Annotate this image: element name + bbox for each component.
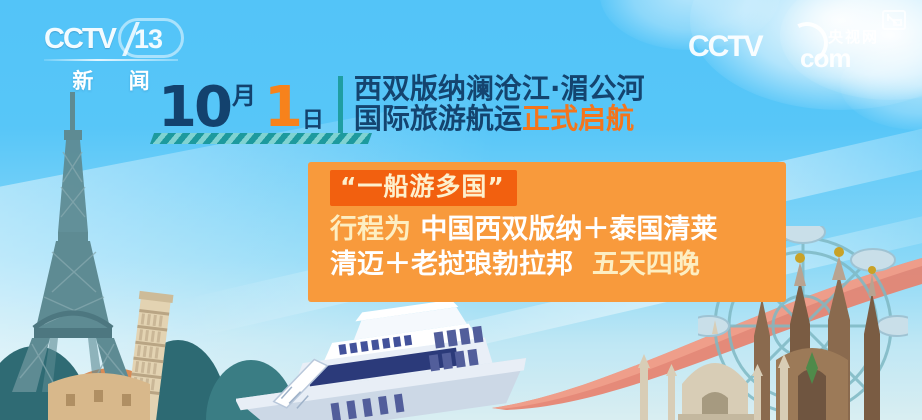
cctv-com-watermark: CCTV com 央视网: [688, 28, 888, 74]
headline-line-2-plain: 国际旅游航运: [354, 102, 522, 135]
hill-decoration: [206, 360, 296, 420]
headline-line-2: 国际旅游航运正式启航: [354, 104, 645, 134]
banner-duration: 五天四晚: [592, 249, 700, 280]
banner-route-cities-1: 中国西双版纳＋泰国清莱: [420, 214, 717, 245]
date-day-number: 1: [264, 81, 300, 136]
headline-line-2-emphasis: 正式启航: [522, 102, 634, 135]
channel-pill-outline: [118, 18, 184, 58]
taj-mahal-icon: [620, 310, 810, 420]
date-stripe-underline: [150, 133, 372, 144]
logo-underline-divider: [44, 59, 178, 61]
broadcast-graphic: CCTV 13 新 闻 CCTV com 央视网 10 月 1 日 西双版纳澜沧…: [0, 0, 922, 420]
itinerary-banner: “一船游多国” 行程为 中国西双版纳＋泰国清莱 清迈＋老挝琅勃拉邦 五天四晚: [308, 162, 786, 302]
banner-route-cities-2: 清迈＋老挝琅勃拉邦: [330, 249, 573, 280]
headline-divider: [338, 76, 343, 136]
banner-route-line-2: 清迈＋老挝琅勃拉邦 五天四晚: [330, 247, 786, 282]
cctv-com-wordmark: CCTV: [688, 32, 762, 62]
restore-inner-frame-icon: [893, 19, 902, 26]
headline-text-group: 西双版纳澜沧江·湄公河 国际旅游航运正式启航: [354, 74, 645, 134]
cctv-wordmark: CCTV: [44, 25, 115, 54]
restore-down-icon[interactable]: [882, 10, 906, 30]
date-month-number: 10: [158, 81, 230, 136]
cctv-com-chinese-label: 央视网: [828, 26, 879, 47]
banner-tag: “一船游多国”: [330, 170, 517, 206]
headline-line-1: 西双版纳澜沧江·湄公河: [354, 74, 645, 104]
cctv-com-suffix: com: [800, 45, 850, 71]
banner-route-label: 行程为: [330, 214, 411, 245]
date-day-unit: 日: [302, 110, 324, 132]
banner-tag-label: “一船游多国”: [340, 172, 505, 201]
banner-route-line-1: 行程为 中国西双版纳＋泰国清莱: [330, 212, 786, 247]
headline-block: 10 月 1 日 西双版纳澜沧江·湄公河 国际旅游航运正式启航: [158, 74, 645, 136]
date-group: 10 月 1 日: [158, 74, 324, 136]
date-month-unit: 月: [232, 84, 256, 108]
